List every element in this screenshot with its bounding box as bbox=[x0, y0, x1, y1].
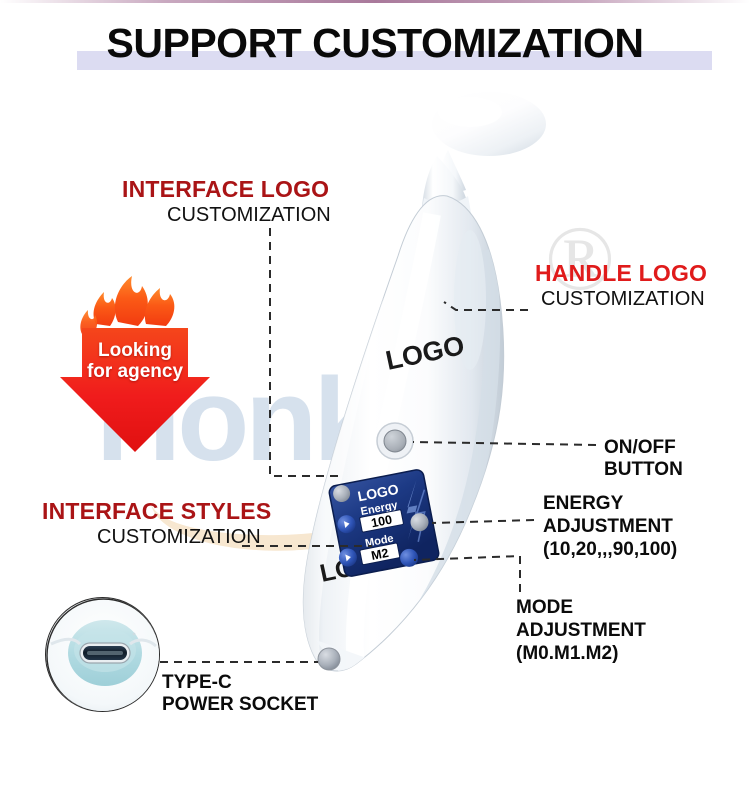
annotation-mode-adjustment: MODE ADJUSTMENT (M0.M1.M2) bbox=[516, 596, 646, 665]
annotation-handle-logo-subtitle: CUSTOMIZATION bbox=[541, 288, 707, 311]
annotation-interface-styles: INTERFACE STYLES CUSTOMIZATION bbox=[42, 498, 271, 549]
annotation-on-off-line-1: ON/OFF bbox=[604, 437, 683, 459]
annotation-interface-styles-subtitle: CUSTOMIZATION bbox=[97, 526, 271, 549]
annotation-interface-logo: INTERFACE LOGO CUSTOMIZATION bbox=[122, 176, 331, 227]
annotation-on-off-line-2: BUTTON bbox=[604, 459, 683, 481]
annotation-type-c-line-1: TYPE-C bbox=[162, 672, 318, 694]
flame-icon bbox=[80, 276, 174, 336]
promo-text: Looking for agency bbox=[60, 340, 210, 382]
annotation-energy-line-2: ADJUSTMENT bbox=[543, 515, 677, 538]
annotation-on-off-button: ON/OFF BUTTON bbox=[604, 437, 683, 481]
annotation-type-c-line-2: POWER SOCKET bbox=[162, 694, 318, 716]
promo-line-1: Looking bbox=[60, 340, 210, 361]
on-off-button-on-device bbox=[377, 423, 413, 459]
type-c-socket-closeup bbox=[45, 597, 160, 712]
annotation-energy-adjustment: ENERGY ADJUSTMENT (10,20,,,90,100) bbox=[543, 492, 677, 561]
annotation-interface-logo-title: INTERFACE LOGO bbox=[122, 176, 331, 203]
annotation-mode-line-2: ADJUSTMENT bbox=[516, 619, 646, 642]
annotation-interface-styles-title: INTERFACE STYLES bbox=[42, 498, 271, 525]
leader-interface-logo bbox=[270, 228, 344, 476]
promo-line-2: for agency bbox=[60, 361, 210, 382]
annotation-mode-line-1: MODE bbox=[516, 596, 646, 619]
type-c-port-on-device bbox=[318, 648, 340, 670]
annotation-interface-logo-subtitle: CUSTOMIZATION bbox=[167, 204, 331, 227]
annotation-mode-line-3: (M0.M1.M2) bbox=[516, 642, 646, 665]
annotation-energy-line-1: ENERGY bbox=[543, 492, 677, 515]
annotation-handle-logo: HANDLE LOGO CUSTOMIZATION bbox=[535, 260, 707, 311]
poster-canvas: SUPPORT CUSTOMIZATION Honkay ® bbox=[0, 0, 750, 801]
annotation-handle-logo-title: HANDLE LOGO bbox=[535, 260, 707, 287]
annotation-energy-line-3: (10,20,,,90,100) bbox=[543, 538, 677, 561]
annotation-type-c-power-socket: TYPE-C POWER SOCKET bbox=[162, 672, 318, 716]
